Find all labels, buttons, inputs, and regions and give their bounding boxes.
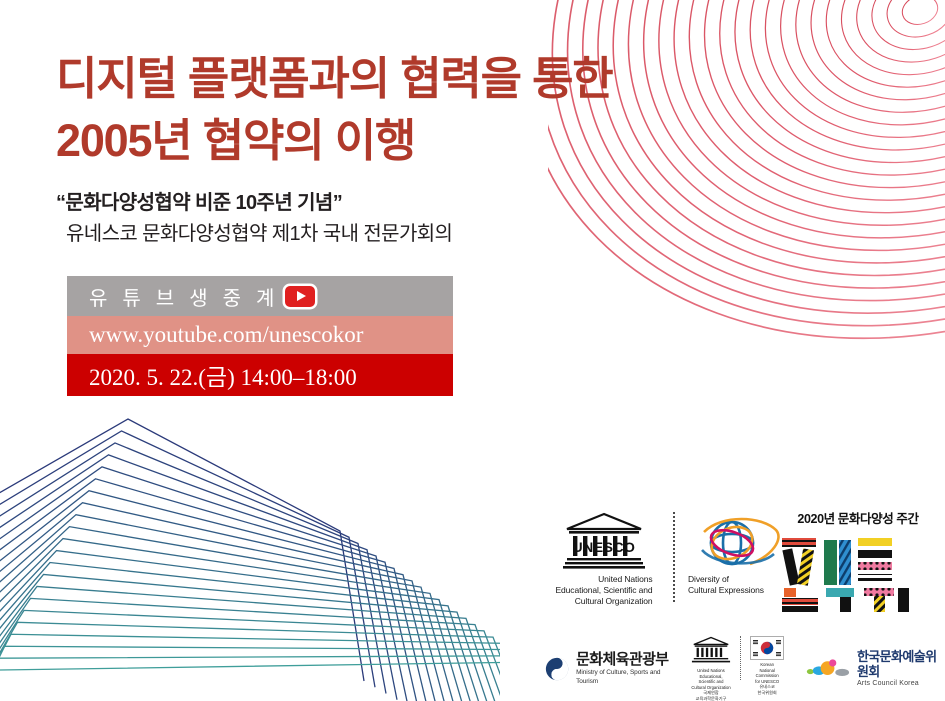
diversity-caption: Diversity of Cultural Expressions: [688, 574, 764, 596]
culture-week-line-2: [782, 588, 909, 612]
headline-line-1: 디지털 플랫폼과의 협력을 통한: [56, 48, 613, 110]
logo-divider: [673, 512, 675, 602]
taegeuk-icon: [545, 655, 569, 683]
mcst-logo: 문화체육관광부 Ministry of Culture, Sports and …: [545, 651, 669, 686]
globe-diversity-icon: [688, 512, 788, 574]
live-stream-banner: 유 튜 브 생 중 계 www.youtube.com/unescokor 20…: [67, 276, 453, 396]
unesco-wordmark: UNESCO: [573, 539, 636, 555]
arko-name-en: Arts Council Korea: [857, 679, 945, 689]
unesco-caption-line-2: Educational, Scientific and: [555, 585, 652, 596]
arko-text-block: 한국문화예술위원회 Arts Council Korea: [857, 649, 945, 689]
kncu-korea-caption-line-2: National Commission: [750, 668, 784, 679]
subtitle-main-line: 유네스코 문화다양성협약 제1차 국내 전문가회의: [56, 218, 452, 250]
poster-canvas: 디지털 플랫폼과의 협력을 통한 2005년 협약의 이행 “문화다양성협약 비…: [0, 0, 945, 701]
partner-logo-row: 문화체육관광부 Ministry of Culture, Sports and …: [545, 636, 945, 701]
kncu-korea-caption-ko-2: 한국위원회: [750, 690, 784, 696]
kncu-unesco-caption: United Nations Educational, Scientific a…: [691, 668, 731, 701]
culture-week-wordmark-icon: [778, 530, 938, 612]
live-label-band: 유 튜 브 생 중 계: [67, 276, 453, 316]
kncu-logo: United Nations Educational, Scientific a…: [691, 636, 784, 701]
kncu-divider: [740, 636, 741, 680]
korean-flag-icon: [750, 636, 784, 660]
unesco-caption-line-1: United Nations: [555, 574, 652, 585]
diversity-caption-line-1: Diversity of: [688, 574, 764, 585]
youtube-play-icon[interactable]: [285, 286, 315, 307]
nested-angular-line-pattern: [0, 411, 500, 701]
stream-url-band[interactable]: www.youtube.com/unescokor: [67, 316, 453, 354]
mcst-name-ko: 문화체육관광부: [576, 651, 669, 668]
arko-logo: 한국문화예술위원회 Arts Council Korea: [806, 649, 945, 689]
arko-dots-icon: [806, 656, 851, 682]
unesco-temple-icon-small: [691, 636, 731, 666]
stream-url-text: www.youtube.com/unescokor: [89, 322, 363, 348]
poster-subtitle: “문화다양성협약 비준 10주년 기념” 유네스코 문화다양성협약 제1차 국내…: [56, 188, 452, 250]
culture-week-title: 2020년 문화다양성 주간: [778, 508, 938, 527]
unesco-diversity-logo-row: UNESCO United Nations Educational, Scien…: [548, 512, 793, 607]
headline-line-2: 2005년 협약의 이행: [56, 110, 613, 172]
culture-week-line-1: [782, 538, 892, 586]
kncu-unesco-caption-ko-2: 교육과학문화기구: [691, 696, 731, 701]
event-date-band: 2020. 5. 22.(금) 14:00–18:00: [67, 354, 453, 396]
event-date-text: 2020. 5. 22.(금) 14:00–18:00: [89, 358, 357, 392]
unesco-logo: UNESCO United Nations Educational, Scien…: [548, 512, 660, 607]
culture-week-logo: 2020년 문화다양성 주간: [778, 508, 938, 617]
subtitle-quote-line: “문화다양성협약 비준 10주년 기념”: [56, 188, 452, 218]
live-label-text: 유 튜 브 생 중 계: [89, 282, 279, 311]
mcst-text-block: 문화체육관광부 Ministry of Culture, Sports and …: [576, 651, 669, 686]
diversity-caption-line-2: Cultural Expressions: [688, 585, 764, 596]
unesco-caption: United Nations Educational, Scientific a…: [555, 574, 652, 607]
kncu-unesco-block: United Nations Educational, Scientific a…: [691, 636, 731, 701]
kncu-unesco-caption-line-2: Educational, Scientific and: [691, 674, 731, 685]
unesco-caption-line-3: Cultural Organization: [555, 596, 652, 607]
mcst-name-en: Ministry of Culture, Sports and Tourism: [576, 668, 669, 686]
kncu-korea-block: Korean National Commission for UNESCO 유네…: [750, 636, 784, 696]
unesco-temple-icon: UNESCO: [561, 512, 647, 574]
arko-name-ko: 한국문화예술위원회: [857, 649, 945, 679]
poster-headline: 디지털 플랫폼과의 협력을 통한 2005년 협약의 이행: [56, 48, 613, 172]
kncu-korea-caption: Korean National Commission for UNESCO 유네…: [750, 662, 784, 696]
